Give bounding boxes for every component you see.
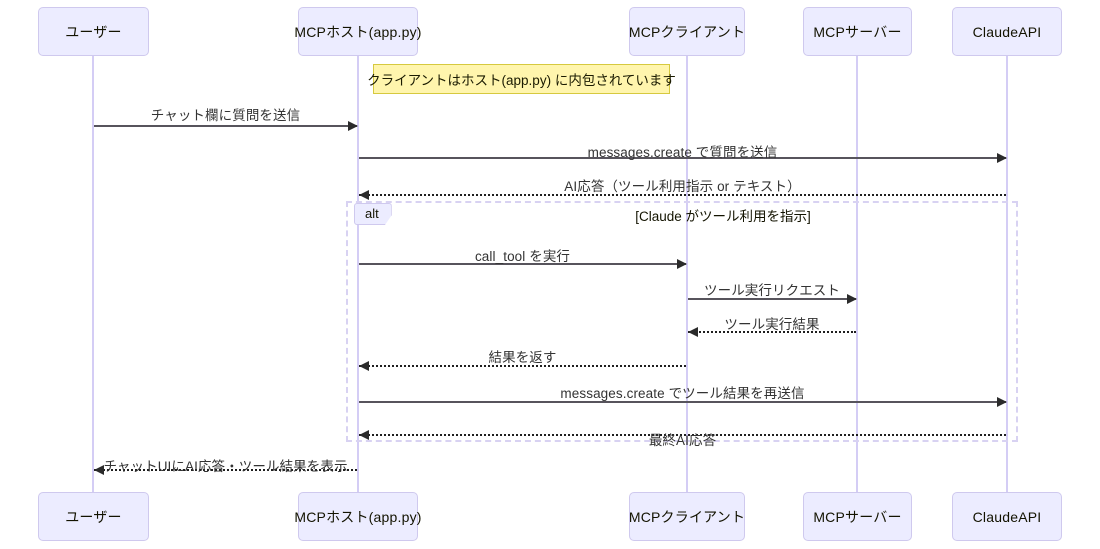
actor-label-user: ユーザー [65,507,122,527]
actor-label-claude-api: ClaudeAPI [973,24,1042,40]
actor-label-user: ユーザー [65,22,122,42]
message-label-tool-exec-result: ツール実行結果 [724,313,819,333]
message-label-messages-create-question: messages.create で質問を送信 [588,141,778,161]
lifeline-user [92,56,94,492]
actor-box-bottom-mcp-server[interactable]: MCPサーバー [803,492,912,541]
arrow-head-call-tool [677,259,687,269]
arrow-head-messages-create-question [997,153,1007,163]
message-line-send-question-chat [94,125,357,127]
message-label-send-question-chat: チャット欄に質問を送信 [151,104,300,124]
actor-box-bottom-user[interactable]: ユーザー [38,492,149,541]
actor-label-mcp-server: MCPサーバー [813,507,901,527]
lifeline-claude-api [1006,56,1008,492]
actor-box-top-mcp-client[interactable]: MCPクライアント [629,7,745,56]
sequence-diagram: ユーザーMCPホスト(app.py)MCPクライアントMCPサーバーClaude… [0,0,1100,549]
actor-box-top-user[interactable]: ユーザー [38,7,149,56]
alt-fragment-label: alt [354,203,392,225]
actor-label-mcp-server: MCPサーバー [813,22,901,42]
arrow-head-ai-response [359,190,369,200]
message-label-tool-exec-request: ツール実行リクエスト [704,279,840,299]
lifeline-mcp-client [686,56,688,492]
message-label-return-result: 結果を返す [489,346,557,366]
actor-box-bottom-claude-api[interactable]: ClaudeAPI [952,492,1062,541]
alt-fragment-condition: [Claude がツール利用を指示] [635,205,811,225]
note-client-inside-host: クライアントはホスト(app.py) に内包されています [373,64,670,94]
message-label-final-ai-response: 最終AI応答 [649,429,716,449]
actor-label-mcp-client: MCPクライアント [629,507,745,527]
arrow-head-tool-exec-result [688,327,698,337]
arrow-head-messages-create-tool-result [997,397,1007,407]
actor-label-claude-api: ClaudeAPI [973,509,1042,525]
actor-box-bottom-mcp-client[interactable]: MCPクライアント [629,492,745,541]
message-label-messages-create-tool-result: messages.create でツール結果を再送信 [560,382,804,402]
arrow-head-tool-exec-request [847,294,857,304]
actor-box-top-claude-api[interactable]: ClaudeAPI [952,7,1062,56]
actor-box-bottom-mcp-host[interactable]: MCPホスト(app.py) [298,492,418,541]
actor-label-mcp-client: MCPクライアント [629,22,745,42]
message-label-display-in-chat-ui: チャットUIにAI応答・ツール結果を表示 [103,455,347,475]
message-label-call-tool: call_tool を実行 [475,245,570,265]
alt-fragment-frame [346,201,1018,442]
arrow-head-final-ai-response [359,430,369,440]
actor-box-top-mcp-server[interactable]: MCPサーバー [803,7,912,56]
actor-label-mcp-host: MCPホスト(app.py) [294,507,421,527]
message-label-ai-response: AI応答（ツール利用指示 or テキスト） [564,175,800,195]
lifeline-mcp-server [856,56,858,492]
actor-box-top-mcp-host[interactable]: MCPホスト(app.py) [298,7,418,56]
actor-label-mcp-host: MCPホスト(app.py) [294,22,421,42]
arrow-head-send-question-chat [348,121,358,131]
arrow-head-return-result [359,361,369,371]
